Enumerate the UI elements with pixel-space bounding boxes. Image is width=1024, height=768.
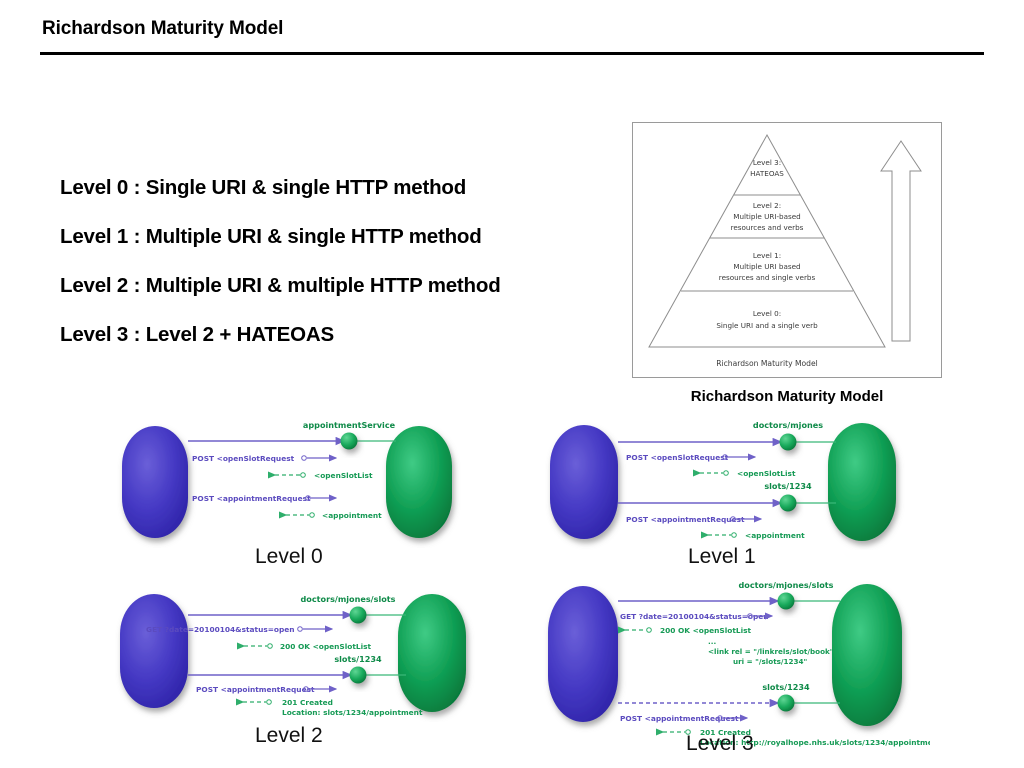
node-label: doctors/mjones/slots xyxy=(301,594,396,604)
message-label: <link rel = "/linkrels/slot/book" xyxy=(708,647,834,656)
level0-svg: appointmentService POST <openSlotRequest… xyxy=(108,418,468,548)
pyramid-diagram: Level 3: HATEOAS Level 2: Multiple URI-b… xyxy=(632,122,942,378)
server-cylinder xyxy=(386,426,452,538)
message-label: GET ?date=20100104&status=open xyxy=(146,625,295,634)
caption-level1: Level 1 xyxy=(688,545,756,569)
node-label: appointmentService xyxy=(303,420,396,430)
message-label: 200 OK <openSlotList xyxy=(660,626,752,635)
diagram-level2: doctors/mjones/slots GET ?date=20100104&… xyxy=(110,582,490,722)
resource-node-dot xyxy=(341,433,358,450)
message-label: GET ?date=20100104&status=open xyxy=(620,612,769,621)
message-label: 201 Created xyxy=(282,698,333,707)
pyramid-tier2-title: Level 2: xyxy=(753,201,781,210)
level2-svg: doctors/mjones/slots GET ?date=20100104&… xyxy=(110,582,490,722)
caption-level2: Level 2 xyxy=(255,724,323,748)
up-arrow-icon xyxy=(881,141,921,341)
message-label: POST <openSlotRequest xyxy=(626,453,729,462)
server-cylinder xyxy=(828,423,896,541)
message-label: POST <appointmentRequest xyxy=(196,685,315,694)
message-label: <appointment xyxy=(745,531,805,540)
diagram-level3: doctors/mjones/slots GET ?date=20100104&… xyxy=(540,572,930,752)
client-cylinder xyxy=(548,586,618,722)
message-label: uri = "/slots/1234" xyxy=(733,657,808,666)
pyramid-tier1-line1: Multiple URI based xyxy=(733,262,800,271)
pyramid-tier2-line1: Multiple URI-based xyxy=(733,212,801,221)
message-label: Location: slots/1234/appointment xyxy=(282,708,423,717)
level1-svg: doctors/mjones POST <openSlotRequest <op… xyxy=(540,415,920,550)
list-item: Level 2 : Multiple URI & multiple HTTP m… xyxy=(60,274,620,298)
list-item: Level 0 : Single URI & single HTTP metho… xyxy=(60,176,620,200)
server-cylinder xyxy=(398,594,466,712)
client-cylinder xyxy=(122,426,188,538)
diagram-level1: doctors/mjones POST <openSlotRequest <op… xyxy=(540,415,920,550)
node-label: doctors/mjones/slots xyxy=(739,580,834,590)
message-label: POST <appointmentRequest xyxy=(620,714,739,723)
pyramid-tier1-line2: resources and single verbs xyxy=(719,273,816,282)
pyramid-tier3-line1: HATEOAS xyxy=(750,169,784,178)
node-label: slots/1234 xyxy=(764,481,812,491)
diagram-level0: appointmentService POST <openSlotRequest… xyxy=(108,418,468,548)
levels-list: Level 0 : Single URI & single HTTP metho… xyxy=(60,176,620,372)
caption-level0: Level 0 xyxy=(255,545,323,569)
message-label: POST <appointmentRequest xyxy=(626,515,745,524)
node-label: doctors/mjones xyxy=(753,420,823,430)
pyramid-inner-caption: Richardson Maturity Model xyxy=(716,359,818,368)
message-label: 200 OK <openSlotList xyxy=(280,642,372,651)
resource-node-dot xyxy=(778,593,795,610)
message-label: <appointment xyxy=(322,511,382,520)
message-label: ... xyxy=(708,637,716,646)
resource-node-dot xyxy=(778,695,795,712)
node-label: slots/1234 xyxy=(334,654,382,664)
title-divider xyxy=(40,52,984,55)
pyramid-svg: Level 3: HATEOAS Level 2: Multiple URI-b… xyxy=(633,123,941,377)
resource-node-dot xyxy=(350,667,367,684)
client-cylinder xyxy=(550,425,618,539)
message-label: <openSlotList xyxy=(314,471,373,480)
pyramid-caption: Richardson Maturity Model xyxy=(632,388,942,405)
pyramid-tier0-title: Level 0: xyxy=(753,309,781,318)
server-cylinder xyxy=(832,584,902,726)
message-label: POST <appointmentRequest xyxy=(192,494,311,503)
pyramid-tier2-line2: resources and verbs xyxy=(731,223,804,232)
list-item: Level 3 : Level 2 + HATEOAS xyxy=(60,323,620,347)
page-title: Richardson Maturity Model xyxy=(42,18,283,40)
message-label: POST <openSlotRequest xyxy=(192,454,295,463)
pyramid-tier3-title: Level 3: xyxy=(753,158,781,167)
pyramid-tier0-line1: Single URI and a single verb xyxy=(716,321,818,330)
client-cylinder xyxy=(120,594,188,708)
resource-node-dot xyxy=(350,607,367,624)
node-label: slots/1234 xyxy=(762,682,810,692)
level3-svg: doctors/mjones/slots GET ?date=20100104&… xyxy=(540,572,930,752)
resource-node-dot xyxy=(780,495,797,512)
message-label: <openSlotList xyxy=(737,469,796,478)
caption-level3: Level 3 xyxy=(686,732,754,756)
pyramid-tier1-title: Level 1: xyxy=(753,251,781,260)
resource-node-dot xyxy=(780,434,797,451)
list-item: Level 1 : Multiple URI & single HTTP met… xyxy=(60,225,620,249)
